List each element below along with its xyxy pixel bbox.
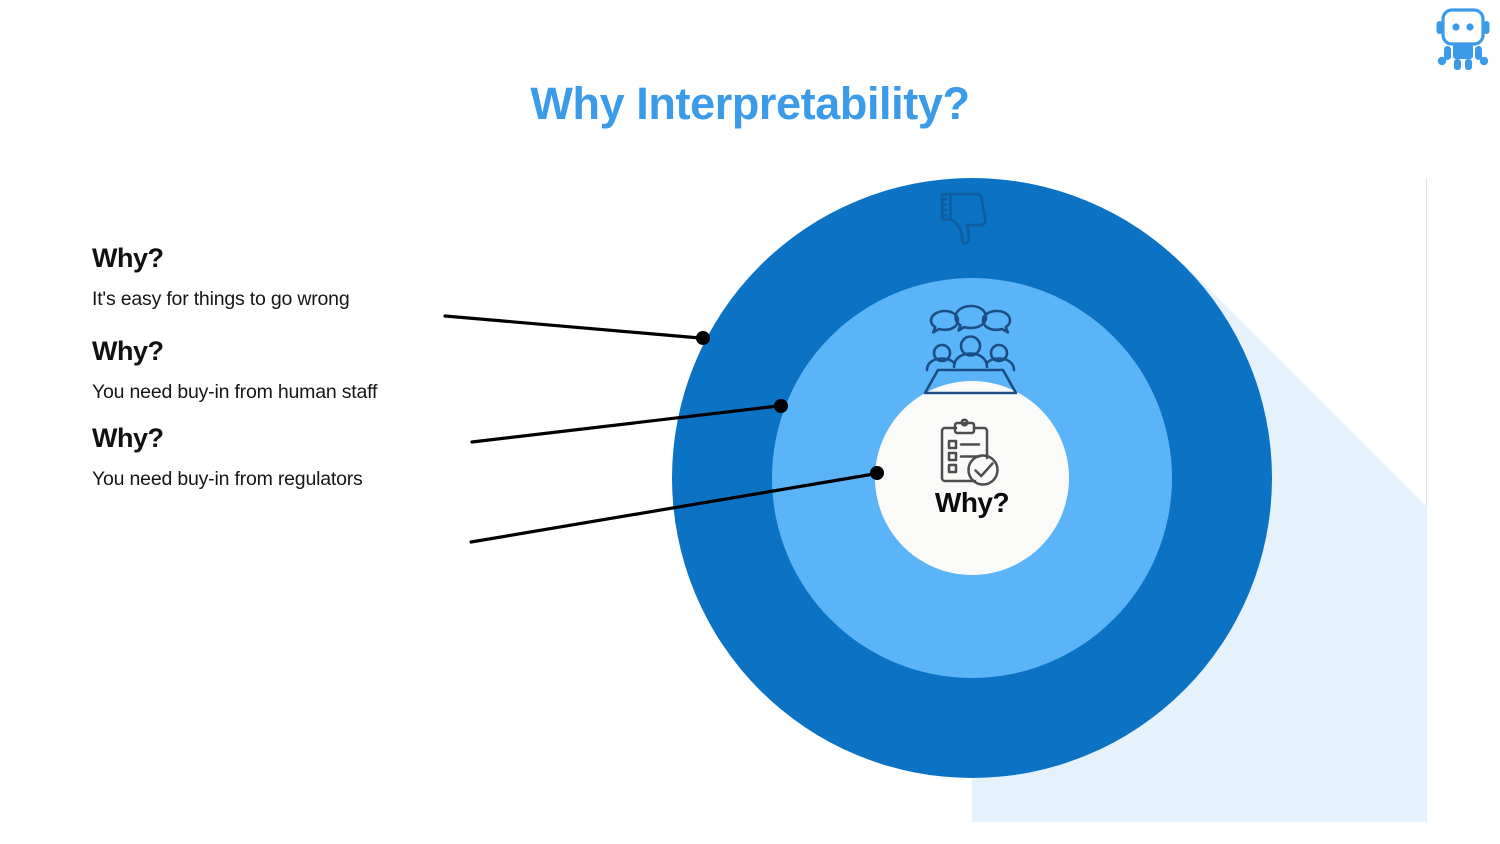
- legend-description: You need buy-in from regulators: [92, 468, 512, 491]
- list-item: Why? It's easy for things to go wrong: [92, 243, 512, 311]
- list-item: Why? You need buy-in from regulators: [92, 423, 512, 491]
- list-item: Why? You need buy-in from human staff: [92, 336, 512, 404]
- core-circle-label: Why?: [882, 487, 1062, 519]
- slide-canvas: Why Interpretability?: [0, 0, 1500, 844]
- legend-heading: Why?: [92, 423, 512, 454]
- legend-heading: Why?: [92, 336, 512, 367]
- legend-description: It's easy for things to go wrong: [92, 288, 512, 311]
- legend-heading: Why?: [92, 243, 512, 274]
- legend-list: Why? It's easy for things to go wrong Wh…: [92, 243, 512, 491]
- page-title: Why Interpretability?: [0, 79, 1500, 129]
- legend-description: You need buy-in from human staff: [92, 381, 512, 404]
- robot-icon: [1432, 6, 1494, 72]
